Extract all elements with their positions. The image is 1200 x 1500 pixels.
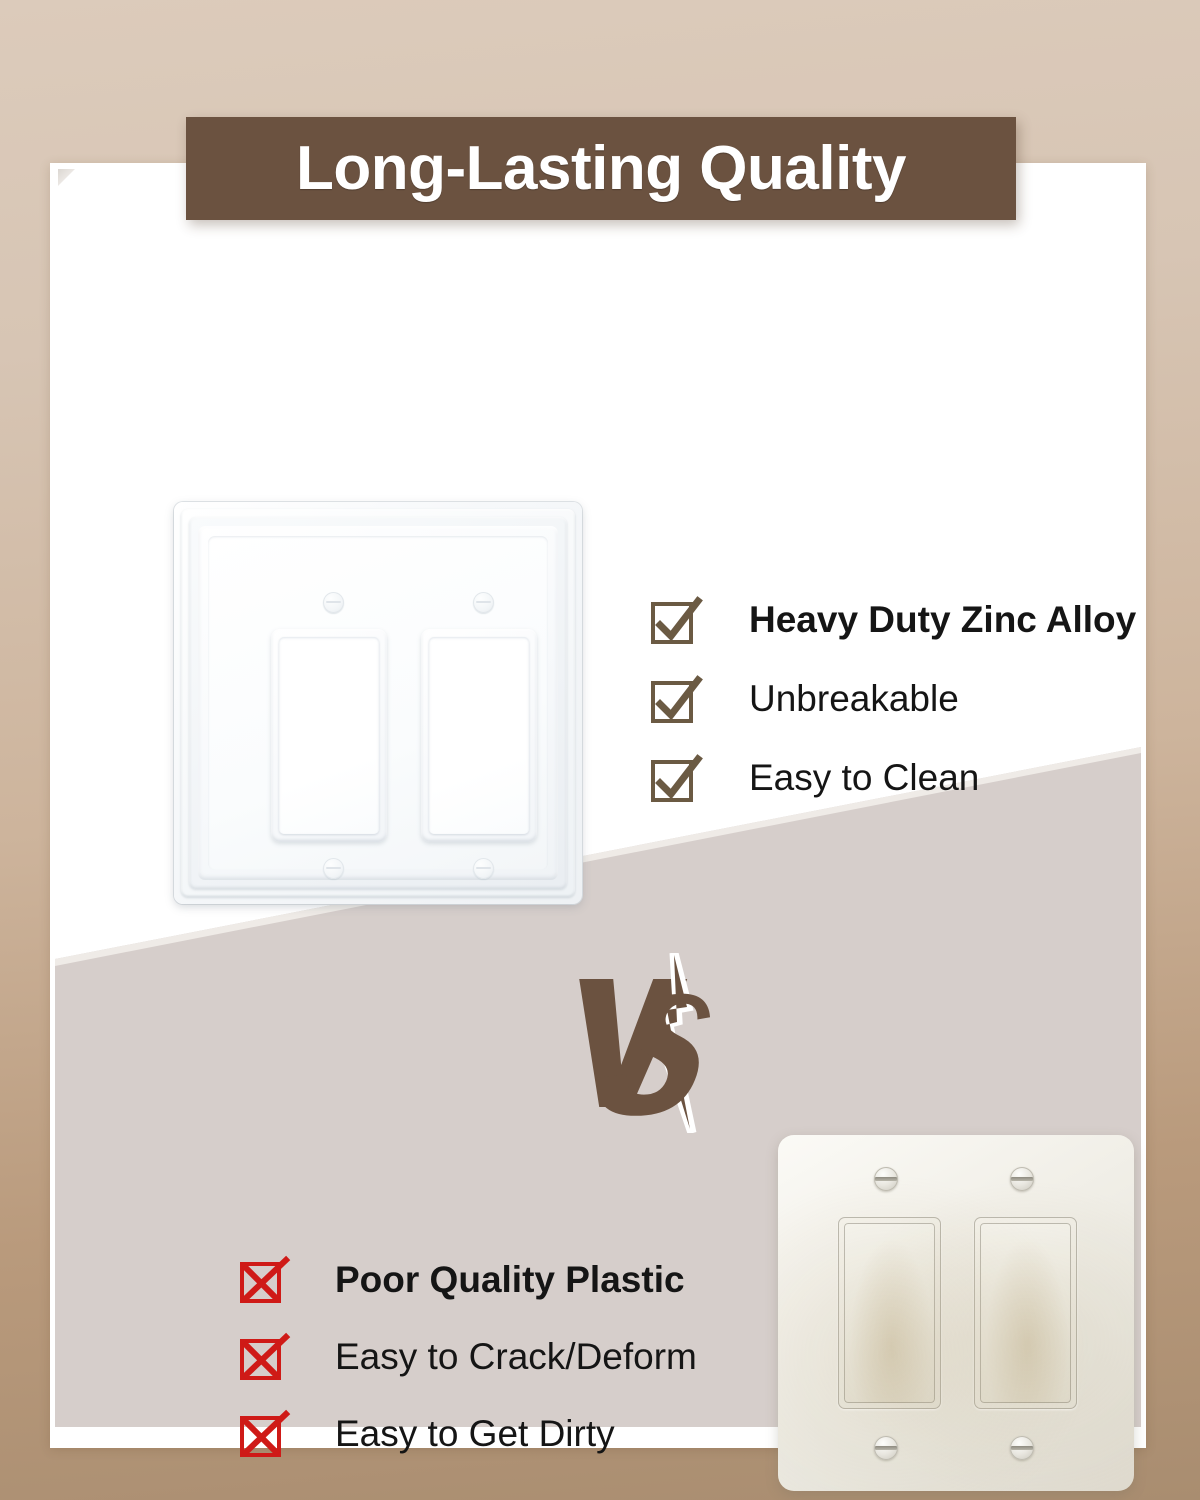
list-item: Unbreakable <box>651 659 1136 738</box>
screw-icon <box>1010 1436 1034 1460</box>
vs-lightning-icon <box>570 953 750 1133</box>
list-item: Easy to Clean <box>651 738 1136 817</box>
rocker-switch-icon <box>974 1217 1077 1409</box>
zinc-alloy-wall-plate-image <box>174 502 582 904</box>
screw-icon <box>323 592 344 613</box>
feature-label: Poor Quality Plastic <box>335 1261 685 1298</box>
plate-face <box>208 536 548 870</box>
good-product-feature-list: Heavy Duty Zinc Alloy Unbreakable Easy t… <box>651 580 1136 817</box>
screw-icon <box>323 858 344 879</box>
list-item: Easy to Crack/Deform <box>240 1318 697 1395</box>
screw-icon <box>874 1436 898 1460</box>
checkbox-check-icon <box>651 675 699 723</box>
checkbox-cross-icon <box>240 1410 288 1458</box>
list-item: Easy to Get Dirty <box>240 1395 697 1472</box>
feature-label: Easy to Clean <box>749 759 979 796</box>
screw-icon <box>473 592 494 613</box>
page-title-banner: Long-Lasting Quality <box>186 117 1016 220</box>
screw-icon <box>1010 1167 1034 1191</box>
checkbox-cross-icon <box>240 1256 288 1304</box>
screw-icon <box>874 1167 898 1191</box>
feature-label: Heavy Duty Zinc Alloy <box>749 601 1136 638</box>
bad-product-feature-list: Poor Quality Plastic Easy to Crack/Defor… <box>240 1241 697 1472</box>
page-title: Long-Lasting Quality <box>296 133 906 204</box>
page-corner-fold-icon <box>58 169 75 186</box>
rocker-switch-icon <box>271 629 387 842</box>
rocker-switch-icon <box>421 629 537 842</box>
list-item: Poor Quality Plastic <box>240 1241 697 1318</box>
rocker-switch-icon <box>838 1217 941 1409</box>
feature-label: Easy to Get Dirty <box>335 1415 615 1452</box>
product-comparison-card: Heavy Duty Zinc Alloy Unbreakable Easy t… <box>50 163 1146 1448</box>
checkbox-check-icon <box>651 754 699 802</box>
checkbox-cross-icon <box>240 1333 288 1381</box>
checkbox-check-icon <box>651 596 699 644</box>
feature-label: Unbreakable <box>749 680 959 717</box>
screw-icon <box>473 858 494 879</box>
plastic-wall-plate-image <box>778 1135 1134 1491</box>
feature-label: Easy to Crack/Deform <box>335 1338 697 1375</box>
list-item: Heavy Duty Zinc Alloy <box>651 580 1136 659</box>
